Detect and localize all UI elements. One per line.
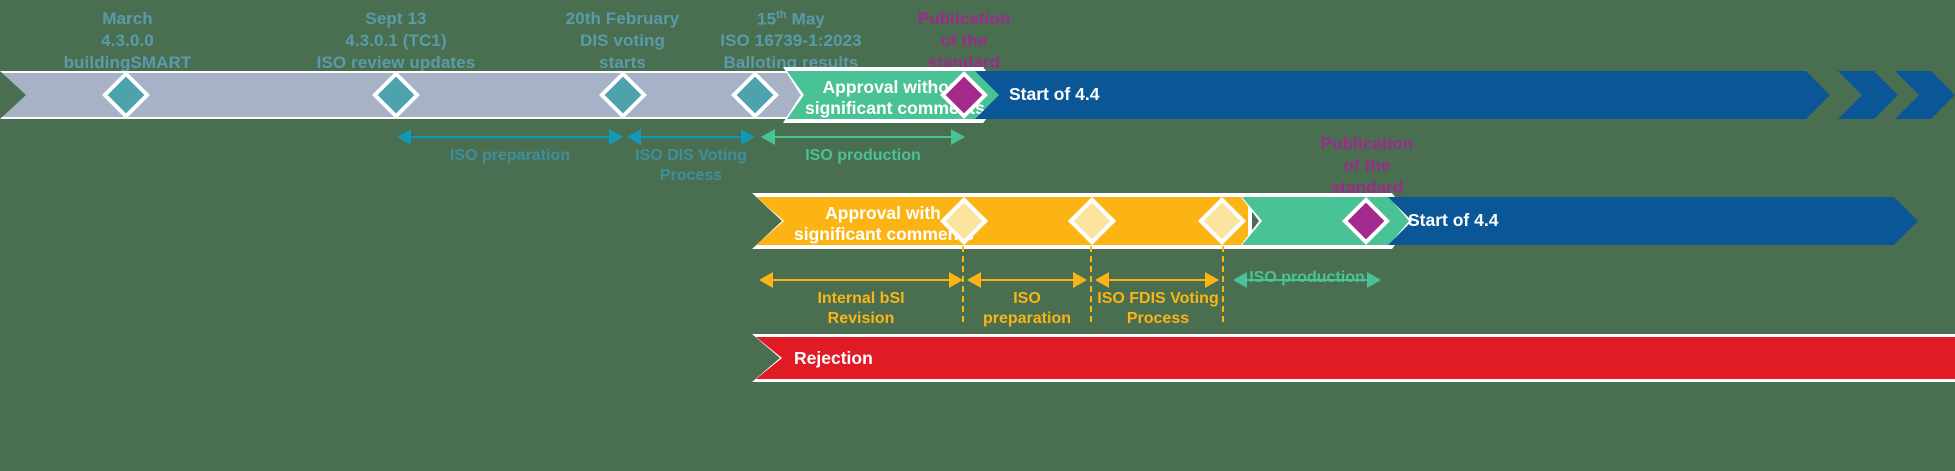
arrow-left-icon — [967, 272, 981, 288]
arrow-right-icon — [1205, 272, 1219, 288]
publication-line-2: of the — [890, 30, 1038, 52]
arrow-left-icon — [759, 272, 773, 288]
arrow-right-icon — [1073, 272, 1087, 288]
milestone-1-date: March — [40, 8, 215, 30]
timeline-diagram: March 4.3.0.0 buildingSMART Sept 13 4.3.… — [0, 0, 1955, 471]
rejection-bar: Rejection — [756, 337, 1955, 379]
publication2-line-1: Publication — [1293, 133, 1441, 155]
milestone-1-version: 4.3.0.0 — [40, 30, 215, 52]
measure-iso-preparation-2 — [980, 279, 1074, 281]
measure-iso-production — [774, 136, 952, 138]
arrow-left-icon — [761, 129, 775, 145]
measure-iso-preparation — [410, 136, 610, 138]
start-of-44-label-2: Start of 4.4 — [1408, 210, 1498, 231]
publication2-line-2: of the — [1293, 155, 1441, 177]
rejection-label: Rejection — [794, 348, 873, 369]
measure-label-iso-dis-voting: ISO DIS Voting Process — [620, 146, 762, 186]
milestone-caption-2: Sept 13 4.3.0.1 (TC1) ISO review updates — [262, 8, 530, 73]
milestone-caption-5-publication: Publication of the standard — [890, 8, 1038, 73]
main-track-chevron-1 — [1838, 71, 1898, 119]
measure-iso-dis-voting — [640, 136, 742, 138]
publication-line-1: Publication — [890, 8, 1038, 30]
orange-divider-3 — [1222, 246, 1224, 322]
milestone-2-date: Sept 13 — [262, 8, 530, 30]
milestone-caption-4: 15th May ISO 16739-1:2023 Balloting resu… — [672, 8, 910, 74]
arrow-left-icon — [1095, 272, 1109, 288]
milestone-1-source: buildingSMART — [40, 52, 215, 74]
measure-label-iso-preparation: ISO preparation — [410, 146, 610, 166]
measure-label-internal-bsi-revision: Internal bSI Revision — [770, 289, 952, 329]
measure-label-iso-production-2: ISO production — [1240, 268, 1374, 288]
arrow-right-icon — [609, 129, 623, 145]
arrow-right-icon — [951, 129, 965, 145]
main-track-start-44-bar: Start of 4.4 — [975, 71, 1830, 119]
measure-label-iso-preparation-2: ISO preparation — [966, 289, 1088, 329]
measure-iso-fdis-voting — [1108, 279, 1206, 281]
arrow-right-icon — [949, 272, 963, 288]
orange-divider-2 — [1090, 246, 1092, 322]
milestone-4-date: 15th May — [672, 8, 910, 30]
arrow-right-icon — [741, 129, 755, 145]
publication-caption-2: Publication of the standard — [1293, 133, 1441, 198]
measure-internal-bsi-revision — [772, 279, 950, 281]
milestone-caption-1: March 4.3.0.0 buildingSMART — [40, 8, 215, 73]
milestone-4-standard: ISO 16739-1:2023 — [672, 30, 910, 52]
arrow-left-icon — [627, 129, 641, 145]
measure-label-iso-production: ISO production — [772, 146, 954, 166]
measure-label-iso-fdis-voting: ISO FDIS Voting Process — [1094, 289, 1222, 329]
milestone-2-version: 4.3.0.1 (TC1) — [262, 30, 530, 52]
approval-with-comments-bar: Approval with significant comments — [756, 197, 1248, 245]
start-of-44-label: Start of 4.4 — [1009, 84, 1099, 105]
arrow-left-icon — [397, 129, 411, 145]
main-track-chevron-2 — [1895, 71, 1955, 119]
orange-track-start-44-bar: Start of 4.4 — [1388, 197, 1918, 245]
